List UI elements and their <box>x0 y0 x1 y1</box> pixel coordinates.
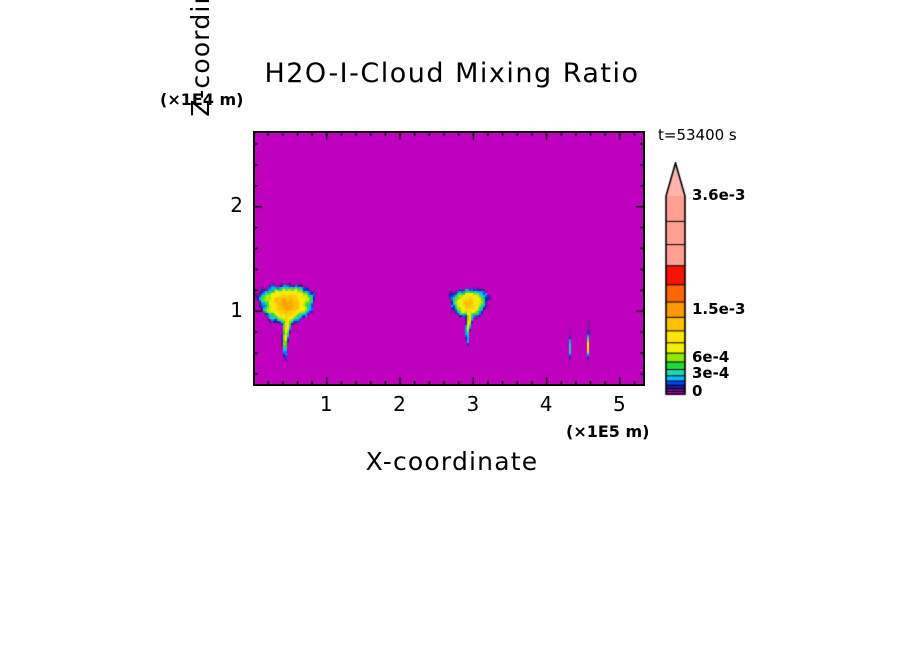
time-annotation: t=53400 s <box>658 126 737 144</box>
colorbar-canvas <box>654 162 689 399</box>
x-tick-label-1: 1 <box>306 392 346 416</box>
x-tick-label-2: 2 <box>380 392 420 416</box>
plot-frame <box>253 131 645 386</box>
x-tick-label-4: 4 <box>526 392 566 416</box>
y-axis-label: Z-coordinate <box>186 0 215 150</box>
x-axis-unit: (×1E5 m) <box>566 422 649 441</box>
colorbar-label-0: 0 <box>692 382 702 400</box>
colorbar-label-15e3: 1.5e-3 <box>692 300 745 318</box>
x-tick-label-3: 3 <box>453 392 493 416</box>
y-tick-label-2: 2 <box>213 193 243 217</box>
figure-root: H2O-I-Cloud Mixing Ratio (×1E4 m) t=5340… <box>0 0 904 654</box>
y-tick-label-1: 1 <box>213 298 243 322</box>
plot-title: H2O-I-Cloud Mixing Ratio <box>0 58 904 89</box>
x-axis-label: X-coordinate <box>0 447 904 476</box>
colorbar-label-36e3: 3.6e-3 <box>692 186 745 204</box>
x-tick-label-5: 5 <box>599 392 639 416</box>
colorbar-label-3e4: 3e-4 <box>692 364 729 382</box>
